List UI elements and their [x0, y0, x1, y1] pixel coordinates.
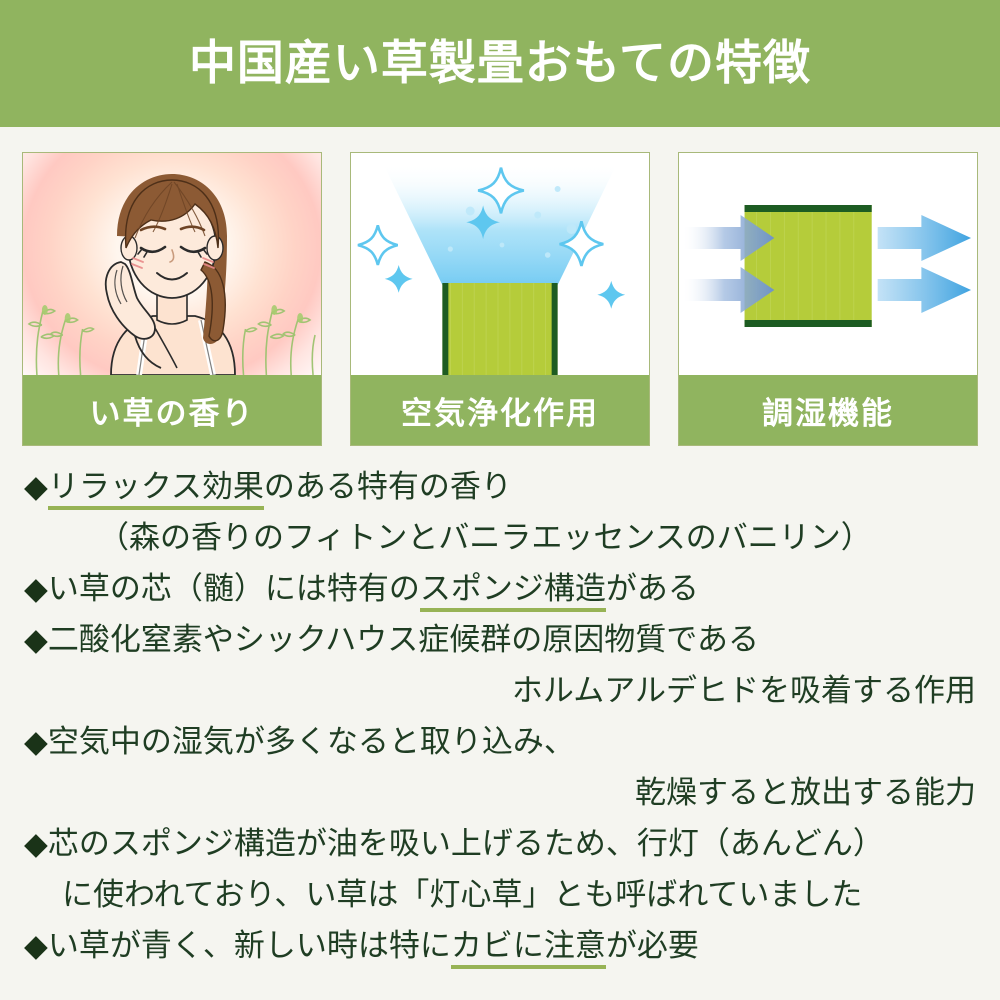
feature-cards: い草の香り: [22, 152, 978, 446]
bullet-continuation-text: 乾燥すると放出する能力: [635, 775, 976, 811]
bullet-item: ◆空気中の湿気が多くなると取り込み、: [0, 717, 1000, 768]
bullet-text-pre: 空気中の湿気が多くなると取り込み、: [48, 724, 575, 760]
bullet-marker: ◆: [0, 928, 48, 964]
bullet-item: ◆二酸化窒素やシックハウス症候群の原因物質である: [0, 615, 1000, 666]
bullet-continuation-text: ホルムアルデヒドを吸着する作用: [512, 673, 976, 709]
feature-card-aroma: い草の香り: [22, 152, 322, 446]
bullet-marker: ◆: [0, 571, 48, 607]
air-purification-illustration: [351, 153, 649, 375]
bullet-text-post: が必要: [606, 928, 699, 964]
card-label-humidity: 調湿機能: [679, 375, 977, 445]
bullet-continuation: に使われており、い草は「灯心草」とも呼ばれていました: [0, 870, 1000, 921]
page-title: 中国産い草製畳おもての特徴: [189, 40, 811, 87]
bullet-text-pre: い草の芯（髄）には特有の: [48, 571, 420, 607]
bullet-marker: ◆: [0, 724, 48, 760]
bullet-text-post: がある: [606, 571, 699, 607]
bullet-marker: ◆: [0, 622, 48, 658]
humidity-control-illustration: [679, 153, 977, 375]
card-label-aroma: い草の香り: [23, 375, 321, 445]
bullet-text-pre: 二酸化窒素やシックハウス症候群の原因物質である: [48, 622, 759, 658]
bullet-text-pre: い草が青く、新しい時は特に: [48, 928, 451, 964]
card-label-air-purification: 空気浄化作用: [351, 375, 649, 445]
bullet-continuation: ホルムアルデヒドを吸着する作用: [0, 666, 1000, 717]
bullet-item: ◆い草が青く、新しい時は特にカビに注意が必要: [0, 921, 1000, 972]
humidity-diagram-icon: [679, 153, 977, 375]
bullet-subline-text: （森の香りのフィトンとバニラエッセンスのバニリン）: [98, 520, 872, 556]
aroma-illustration: [23, 153, 321, 375]
feature-card-humidity: 調湿機能: [678, 152, 978, 446]
bullet-underlined-text: カビに注意: [451, 928, 606, 969]
bullet-subline: （森の香りのフィトンとバニラエッセンスのバニリン）: [0, 513, 1000, 564]
bullet-item: ◆リラックス効果のある特有の香り: [0, 462, 1000, 513]
bullet-text: のある特有の香り: [264, 469, 512, 505]
bullet-marker: ◆: [0, 826, 48, 862]
bullet-marker: ◆: [0, 469, 48, 505]
bullet-continuation: 乾燥すると放出する能力: [0, 768, 1000, 819]
bullet-item: ◆芯のスポンジ構造が油を吸い上げるため、行灯（あんどん）: [0, 819, 1000, 870]
feature-card-air-purification: 空気浄化作用: [350, 152, 650, 446]
bullet-underlined-text: スポンジ構造: [420, 571, 606, 612]
page-header: 中国産い草製畳おもての特徴: [0, 0, 1000, 127]
tatami-mat-icon: [351, 153, 649, 375]
woman-illustration-icon: [77, 170, 267, 375]
bullet-text-pre: 芯のスポンジ構造が油を吸い上げるため、行灯（あんどん）: [48, 826, 884, 862]
infographic-page: 中国産い草製畳おもての特徴: [0, 0, 1000, 1000]
bullet-continuation-text: に使われており、い草は「灯心草」とも呼ばれていました: [62, 877, 862, 913]
bullet-item: ◆い草の芯（髄）には特有のスポンジ構造がある: [0, 564, 1000, 615]
feature-bullet-list: ◆リラックス効果のある特有の香り （森の香りのフィトンとバニラエッセンスのバニリ…: [0, 462, 1000, 972]
bullet-underlined-text: リラックス効果: [48, 469, 264, 510]
